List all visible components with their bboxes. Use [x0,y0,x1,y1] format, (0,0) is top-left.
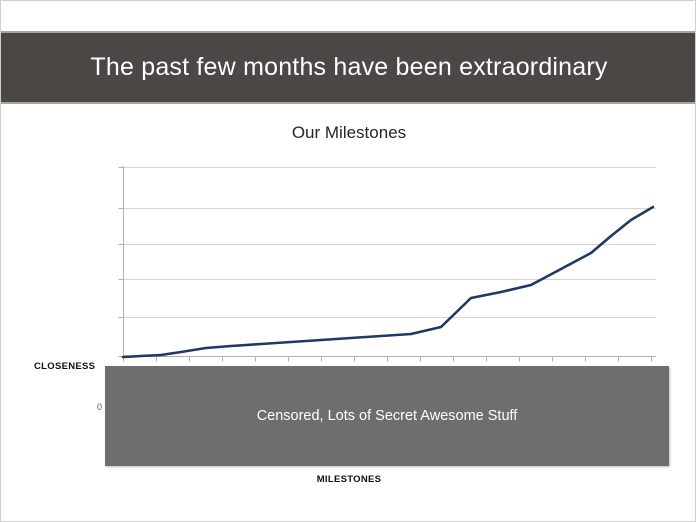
y-axis-zero-label: 0 [97,402,102,412]
censored-overlay-text: Censored, Lots of Secret Awesome Stuff [257,408,518,424]
censored-overlay-box: Censored, Lots of Secret Awesome Stuff [105,366,669,466]
slide-title-band: The past few months have been extraordin… [1,31,696,104]
y-axis-title: CLOSENESS [34,361,95,372]
chart-plot-area: 0 CLOSENESS Censored, Lots of Secret Awe… [1,104,696,522]
page-title: The past few months have been extraordin… [90,53,607,82]
x-axis-ticks [124,357,652,362]
presentation-slide: The past few months have been extraordin… [0,0,696,522]
chart-container: Our Milestones [1,104,696,522]
data-series-line [123,207,653,357]
gridlines [123,168,656,318]
x-axis-title: MILESTONES [1,474,696,485]
